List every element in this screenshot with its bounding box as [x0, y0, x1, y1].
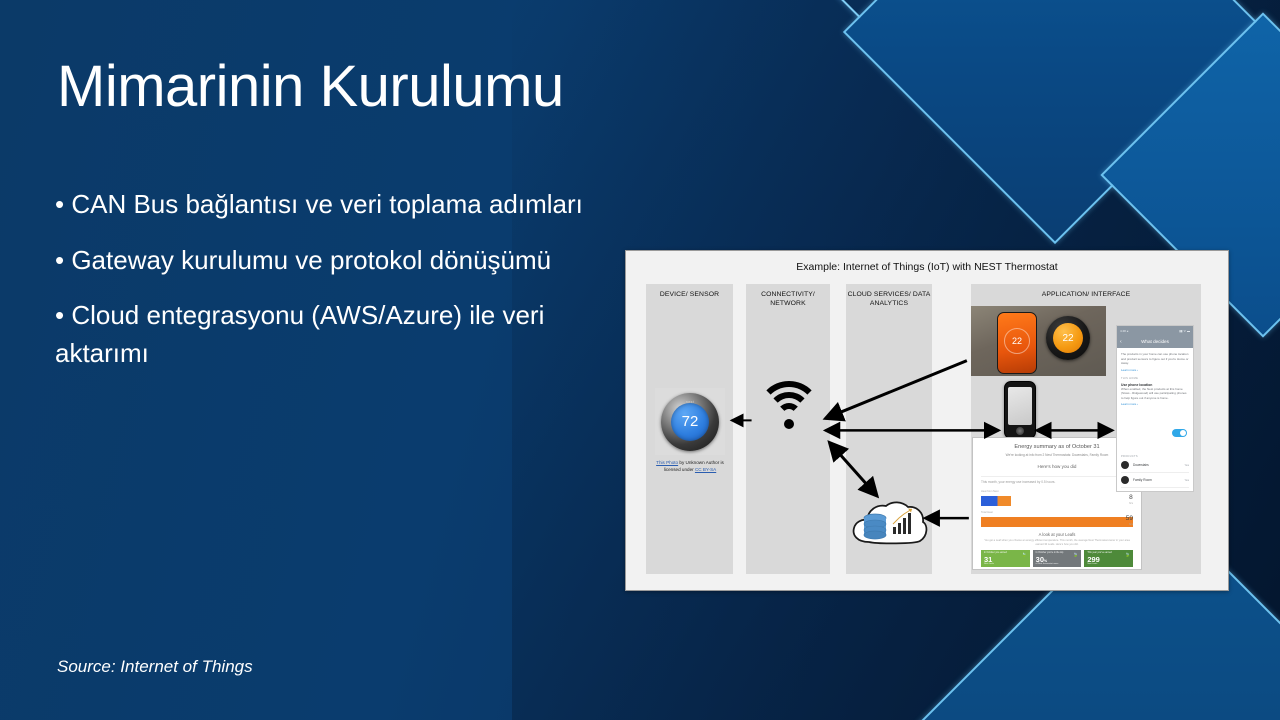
- app-title: What decides: [1141, 339, 1169, 344]
- app-phone-temperature: 22: [1004, 328, 1030, 354]
- stat-card-top: In October you earned: [984, 552, 1027, 555]
- wifi-dot: [784, 419, 794, 429]
- this-photo-link[interactable]: This Photo: [656, 460, 678, 465]
- bar1-number: 8: [1129, 494, 1133, 501]
- page-title: Mimarinin Kurulumu: [57, 55, 564, 119]
- product-thumbnail-icon: [1121, 476, 1129, 484]
- phone-location-toggle[interactable]: [1172, 429, 1187, 437]
- caption-text-1: by Unknown: [678, 460, 705, 465]
- nest-app-screenshot: 4:48 ◂ ▮▮ ᯤ ▬ ‹ What decides The product…: [1116, 325, 1194, 492]
- stat-card-top: In October you're in the top: [1036, 552, 1079, 555]
- wifi-icon: [756, 379, 822, 437]
- thermostat-inner-dial: 72: [671, 403, 709, 441]
- learn-more-link-1[interactable]: Learn more ›: [1121, 368, 1189, 372]
- app-paragraph-1: The products in your home can use phone …: [1121, 352, 1189, 366]
- photo-attribution-caption: This Photo by Unknown Author is licensed…: [649, 459, 731, 473]
- status-bar: 4:48 ◂ ▮▮ ᯤ ▬: [1117, 326, 1193, 335]
- leafs-subtitle: You get a Leaf when you choose an energy…: [981, 539, 1133, 547]
- product-value: Yes: [1184, 463, 1189, 467]
- list-item: • Cloud entegrasyonu (AWS/Azure) ile ver…: [55, 297, 615, 372]
- app-paragraph-2: When enabled, the Nest products at this …: [1121, 387, 1189, 401]
- app-section-this-home: THIS HOME: [1121, 377, 1189, 380]
- thermostat-dial-icon: nest 72: [661, 393, 719, 451]
- nest-brand-label: nest: [686, 400, 694, 404]
- panel-header-application: APPLICATION/ INTERFACE: [971, 290, 1201, 299]
- stat-card-top: This year you've earned: [1087, 552, 1130, 555]
- stat-card: 🍃 This year you've earned 299 Nest Leafs: [1084, 550, 1133, 567]
- bar1-value: 8 hrs: [1129, 494, 1133, 505]
- diagram-title: Example: Internet of Things (IoT) with N…: [626, 261, 1228, 273]
- app-phone-orange: 22: [997, 312, 1037, 374]
- app-thermostat-photo: 22 22: [971, 306, 1106, 376]
- product-thumbnail-icon: [1121, 461, 1129, 469]
- panel-header-cloud: CLOUD SERVICES/ DATAANALYTICS: [846, 290, 932, 308]
- bar2-value: 59 hrs: [1126, 515, 1133, 526]
- product-name: Family Room: [1133, 478, 1152, 482]
- leaf-stat-cards: 🍃 In October you earned 31 Nest Leafs 🍃 …: [981, 550, 1133, 567]
- stat-card-sub: Nest Leafs: [984, 563, 1027, 566]
- products-section: PRODUCTS Downstairs Yes Family Room Yes: [1121, 450, 1189, 488]
- mobile-screen: [1008, 387, 1032, 425]
- list-item: • Gateway kurulumu ve protokol dönüşümü: [55, 242, 615, 280]
- bar2-number: 59: [1126, 515, 1133, 522]
- learn-more-link-2[interactable]: Learn more ›: [1121, 402, 1189, 406]
- bar1-unit: hrs: [1129, 501, 1133, 505]
- bar2-label: Total Heat: [981, 511, 993, 514]
- mobile-device-icon: [1004, 381, 1036, 439]
- stat-card: 🍃 In October you earned 31 Nest Leafs: [981, 550, 1030, 567]
- panel-header-device: DEVICE/ SENSOR: [646, 290, 733, 299]
- cloud-services-icon: [849, 496, 929, 548]
- stat-card-sub: of Nest thermostat users: [1036, 563, 1079, 566]
- app-thermostat-temperature: 22: [1053, 323, 1083, 353]
- list-item[interactable]: Downstairs Yes: [1121, 458, 1189, 473]
- product-name: Downstairs: [1133, 463, 1149, 467]
- list-item: • CAN Bus bağlantısı ve veri toplama adı…: [55, 186, 615, 224]
- list-item[interactable]: Family Room Yes: [1121, 473, 1189, 488]
- back-icon[interactable]: ‹: [1120, 339, 1122, 345]
- nest-thermostat-photo: nest 72: [655, 388, 725, 455]
- status-icons: ▮▮ ᯤ ▬: [1179, 329, 1190, 333]
- bullet-list: • CAN Bus bağlantısı ve veri toplama adı…: [55, 186, 615, 391]
- database-cylinder-icon: [864, 514, 886, 539]
- leafs-title: A look at your Leafs: [973, 532, 1141, 537]
- bar1: [981, 496, 1011, 506]
- energy-row-label: This month, your energy use increased by…: [981, 476, 1133, 484]
- status-time: 4:48 ◂: [1120, 329, 1128, 333]
- source-caption: Source: Internet of Things: [57, 657, 253, 677]
- app-thermostat-dial: 22: [1046, 316, 1090, 360]
- thermostat-temperature: 72: [682, 414, 699, 429]
- stat-card: 🍃 In October you're in the top 30% of Ne…: [1033, 550, 1082, 567]
- mobile-home-button: [1016, 427, 1024, 435]
- bar2: [981, 517, 1133, 527]
- bar2-unit: hrs: [1126, 522, 1133, 526]
- app-title-bar: ‹ What decides: [1117, 335, 1193, 348]
- cc-license-link[interactable]: CC BY-SA: [695, 467, 716, 472]
- iot-diagram: Example: Internet of Things (IoT) with N…: [625, 250, 1229, 591]
- product-value: Yes: [1184, 478, 1189, 482]
- bar1-label: Heat from Nest: [981, 490, 998, 493]
- app-body: The products in your home can use phone …: [1117, 348, 1193, 410]
- panel-header-connectivity: CONNECTIVITY/NETWORK: [746, 290, 830, 308]
- stat-card-sub: Nest Leafs: [1087, 563, 1130, 566]
